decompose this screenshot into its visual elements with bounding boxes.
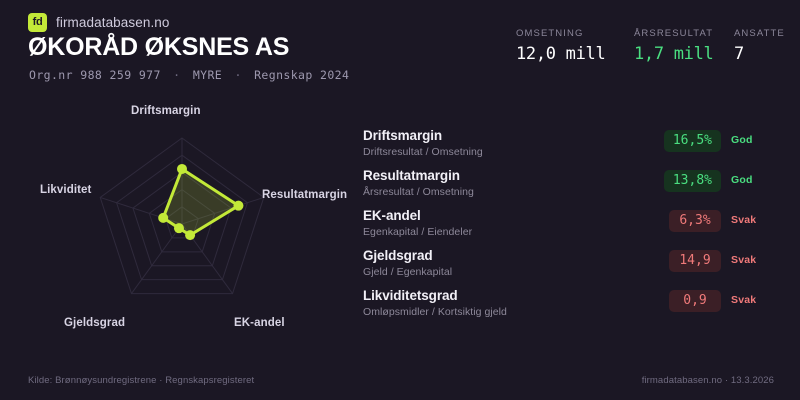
metric-verdict: Svak	[731, 294, 783, 306]
company-city: MYRE	[193, 68, 222, 82]
metric-name: Driftsmargin	[363, 128, 442, 143]
radar-spoke	[131, 224, 182, 294]
radar-chart: Driftsmargin Resultatmargin EK-andel Gje…	[0, 90, 365, 360]
metric-value-badge: 13,8%	[664, 170, 721, 192]
metrics-list: Driftsmargin Driftsresultat / Omsetning …	[363, 128, 783, 328]
kpi-ansatte-label: ANSATTE	[734, 28, 774, 39]
radar-chart-svg	[0, 90, 365, 360]
metric-value-badge: 0,9	[669, 290, 721, 312]
kpi-omsetning-label: OMSETNING	[516, 28, 634, 39]
kpi-strip: OMSETNING 12,0 mill ÅRSRESULTAT 1,7 mill…	[516, 28, 774, 64]
footer-attribution: firmadatabasen.no · 13.3.2026	[642, 375, 774, 386]
metric-formula: Omløpsmidler / Kortsiktig gjeld	[363, 306, 507, 318]
kpi-omsetning: OMSETNING 12,0 mill	[516, 28, 634, 64]
radar-data-point	[185, 230, 195, 240]
page-title: ØKORÅD ØKSNES AS	[28, 33, 289, 62]
metric-row-gjeldsgrad[interactable]: Gjeldsgrad Gjeld / Egenkapital 14,9 Svak	[363, 248, 783, 288]
metric-value-badge: 14,9	[669, 250, 721, 272]
metric-verdict: Svak	[731, 214, 783, 226]
company-meta: Org.nr 988 259 977 · MYRE · Regnskap 202…	[29, 68, 349, 82]
radar-axis-label-likviditet: Likviditet	[40, 184, 91, 196]
metric-row-driftsmargin[interactable]: Driftsmargin Driftsresultat / Omsetning …	[363, 128, 783, 168]
radar-data-point	[174, 223, 184, 233]
metric-value-badge: 16,5%	[664, 130, 721, 152]
radar-axis-label-ek-andel: EK-andel	[234, 317, 285, 329]
brand-name: firmadatabasen.no	[56, 15, 170, 30]
kpi-ansatte-value: 7	[734, 44, 774, 64]
page-header: fd firmadatabasen.no ØKORÅD ØKSNES AS Or…	[0, 0, 800, 90]
metric-row-ek-andel[interactable]: EK-andel Egenkapital / Eiendeler 6,3% Sv…	[363, 208, 783, 248]
metric-row-resultatmargin[interactable]: Resultatmargin Årsresultat / Omsetning 1…	[363, 168, 783, 208]
radar-axis-label-gjeldsgrad: Gjeldsgrad	[64, 317, 125, 329]
metric-formula: Årsresultat / Omsetning	[363, 186, 474, 198]
kpi-omsetning-value: 12,0 mill	[516, 44, 634, 64]
metric-formula: Gjeld / Egenkapital	[363, 266, 452, 278]
meta-separator-1: ·	[168, 68, 185, 82]
metric-verdict: God	[731, 134, 783, 146]
metric-name: Likviditetsgrad	[363, 288, 458, 303]
kpi-arsresultat-value: 1,7 mill	[634, 44, 734, 64]
metric-name: Resultatmargin	[363, 168, 460, 183]
firmadatabasen-logo-icon: fd	[28, 13, 47, 32]
radar-data-point	[233, 201, 243, 211]
kpi-ansatte: ANSATTE 7	[734, 28, 774, 64]
footer-source: Kilde: Brønnøysundregistrene · Regnskaps…	[28, 375, 254, 386]
kpi-arsresultat: ÅRSRESULTAT 1,7 mill	[634, 28, 734, 64]
metric-row-likviditetsgrad[interactable]: Likviditetsgrad Omløpsmidler / Kortsikti…	[363, 288, 783, 328]
metric-value-badge: 6,3%	[669, 210, 721, 232]
company-accounting-year: Regnskap 2024	[254, 68, 349, 82]
metric-name: Gjeldsgrad	[363, 248, 433, 263]
company-orgnr: Org.nr 988 259 977	[29, 68, 161, 82]
meta-separator-2: ·	[229, 68, 246, 82]
radar-data-area	[163, 169, 238, 235]
radar-axis-label-resultatmargin: Resultatmargin	[262, 189, 347, 201]
metric-verdict: Svak	[731, 254, 783, 266]
radar-data-point	[177, 164, 187, 174]
metric-formula: Driftsresultat / Omsetning	[363, 146, 483, 158]
radar-data-point	[158, 213, 168, 223]
metric-name: EK-andel	[363, 208, 421, 223]
metric-verdict: God	[731, 174, 783, 186]
kpi-arsresultat-label: ÅRSRESULTAT	[634, 28, 734, 39]
radar-axis-label-driftsmargin: Driftsmargin	[131, 105, 201, 117]
metric-formula: Egenkapital / Eiendeler	[363, 226, 472, 238]
brand[interactable]: fd firmadatabasen.no	[28, 13, 170, 32]
